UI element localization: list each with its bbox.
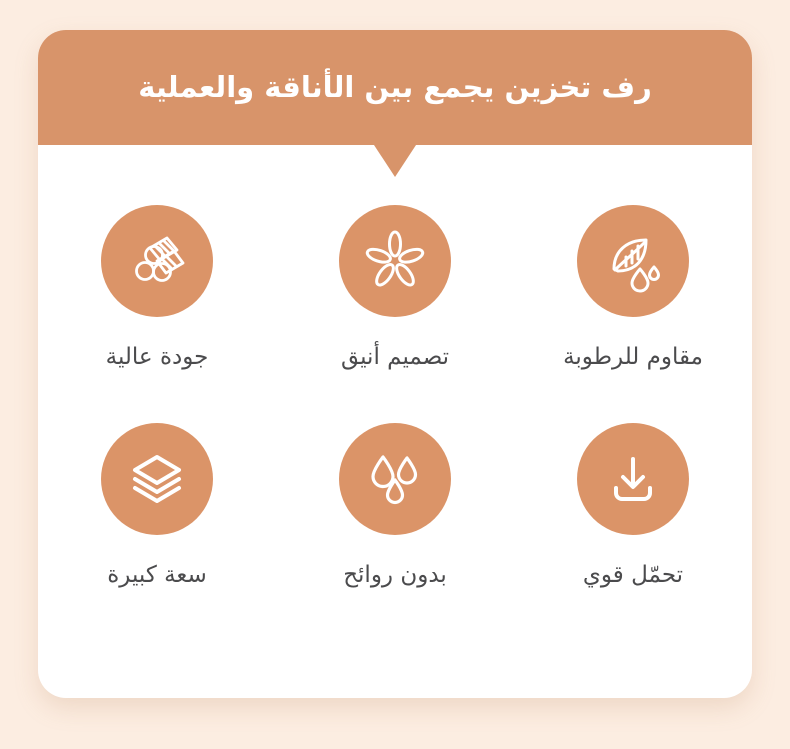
feature-item-odorless: بدون روائح <box>295 423 495 591</box>
feature-label: جودة عالية <box>106 343 209 373</box>
stacked-layers-icon <box>101 423 213 535</box>
feature-label: سعة كبيرة <box>107 561 207 591</box>
feature-label: تحمّل قوي <box>583 561 683 591</box>
feature-row: مقاوم للرطوبة <box>38 205 752 373</box>
page-title: رف تخزين يجمع بين الأناقة والعملية <box>112 68 678 107</box>
flower-petals-icon <box>339 205 451 317</box>
feature-label: تصميم أنيق <box>341 343 449 373</box>
feature-card: رف تخزين يجمع بين الأناقة والعملية <box>38 30 752 698</box>
feature-label: مقاوم للرطوبة <box>563 343 703 373</box>
infographic-page: رف تخزين يجمع بين الأناقة والعملية <box>0 0 790 749</box>
header-banner: رف تخزين يجمع بين الأناقة والعملية <box>38 30 752 145</box>
feature-item-elegant-design: تصميم أنيق <box>295 205 495 373</box>
banner-pointer-tail <box>374 145 416 177</box>
features-grid: مقاوم للرطوبة <box>38 205 752 591</box>
wood-logs-icon <box>101 205 213 317</box>
feature-item-large-capacity: سعة كبيرة <box>57 423 257 591</box>
feature-item-high-quality: جودة عالية <box>57 205 257 373</box>
water-drop-leaf-icon <box>577 205 689 317</box>
feature-item-strong-load: تحمّل قوي <box>533 423 733 591</box>
feature-item-moisture-resistant: مقاوم للرطوبة <box>533 205 733 373</box>
three-droplets-icon <box>339 423 451 535</box>
feature-row: تحمّل قوي بدون روائح <box>38 423 752 591</box>
feature-label: بدون روائح <box>343 561 447 591</box>
download-tray-icon <box>577 423 689 535</box>
